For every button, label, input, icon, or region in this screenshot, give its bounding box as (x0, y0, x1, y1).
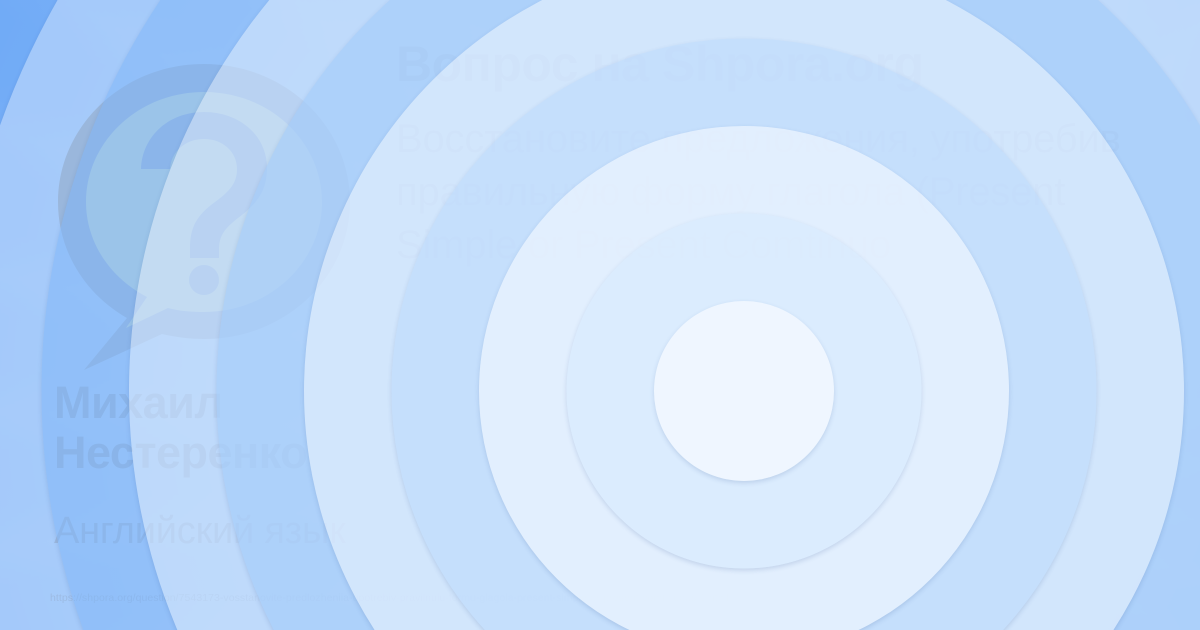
headline-column: Вопрос на Shpora.org Восстановите предло… (396, 38, 1186, 271)
question-mark-dot (189, 265, 219, 295)
source-url[interactable]: https://shpora.org/question/7543173-voss… (50, 592, 729, 605)
author-block: Михаил Нестеренко Английский язык (54, 378, 414, 553)
page-title: Вопрос на Shpora.org (396, 38, 1186, 91)
card-content: Вопрос на Shpora.org Восстановите предло… (0, 0, 1200, 630)
author-name: Михаил Нестеренко (54, 378, 414, 479)
question-speech-bubble-icon (44, 52, 364, 372)
subject-label: Английский язык (54, 511, 414, 553)
question-preview-card: Вопрос на Shpora.org Восстановите предло… (0, 0, 1200, 630)
question-text: Восстановите предложения, употребив прав… (396, 113, 1186, 271)
